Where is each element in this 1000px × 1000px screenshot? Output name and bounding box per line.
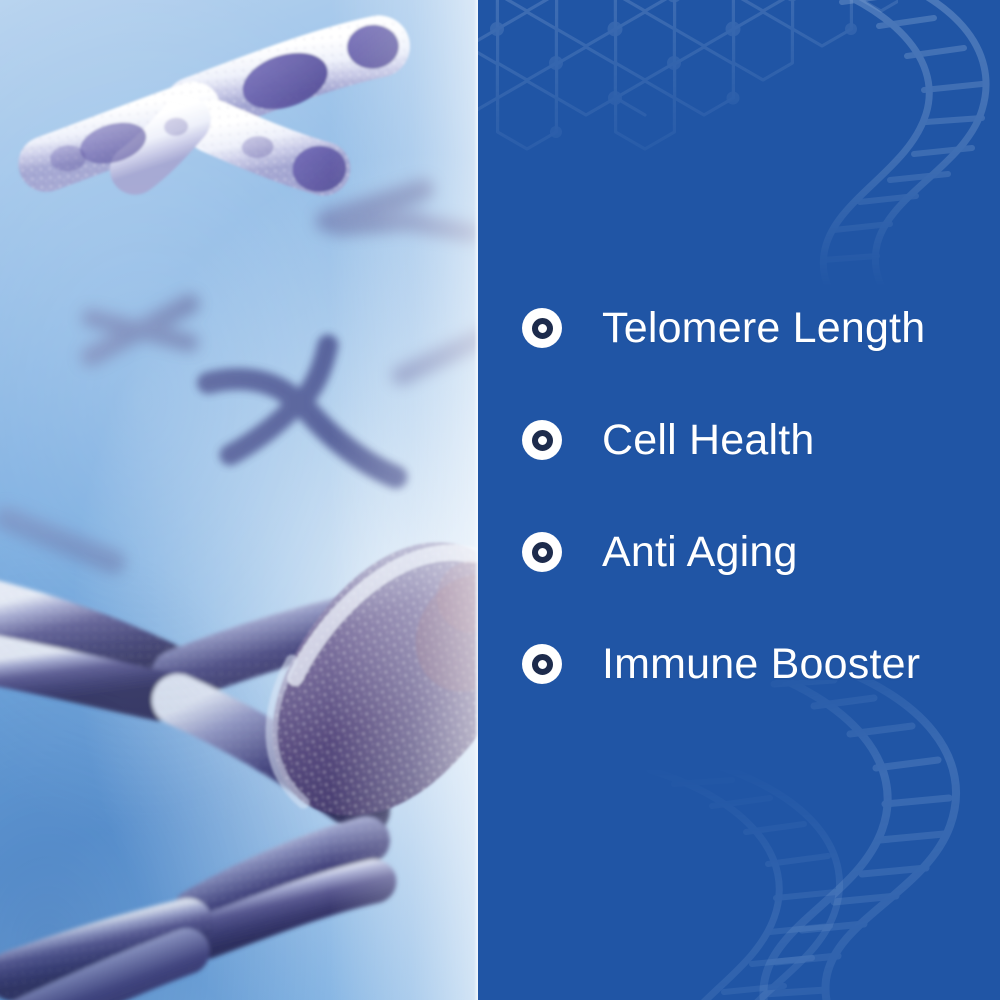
- bullseye-icon: [522, 644, 562, 684]
- feature-item-anti-aging[interactable]: Anti Aging: [522, 496, 1000, 608]
- feature-item-immune-booster[interactable]: Immune Booster: [522, 608, 1000, 720]
- chromosome-far-bottom: [0, 503, 129, 578]
- bullseye-icon: [522, 308, 562, 348]
- chromosome-illustration: [0, 0, 478, 1000]
- bullseye-icon: [522, 532, 562, 572]
- feature-label: Anti Aging: [602, 531, 798, 574]
- product-feature-graphic: Telomere Length Cell Health Anti Aging I…: [0, 0, 1000, 1000]
- feature-label: Cell Health: [602, 419, 815, 462]
- feature-panel: Telomere Length Cell Health Anti Aging I…: [478, 0, 1000, 1000]
- feature-label: Immune Booster: [602, 643, 920, 686]
- bullseye-icon: [522, 420, 562, 460]
- chromosome-bottom: [2, 840, 385, 1000]
- feature-item-cell-health[interactable]: Cell Health: [522, 384, 1000, 496]
- feature-list: Telomere Length Cell Health Anti Aging I…: [478, 0, 1000, 1000]
- feature-label: Telomere Length: [602, 307, 925, 350]
- feature-item-telomere-length[interactable]: Telomere Length: [522, 272, 1000, 384]
- chromosome-photo: [0, 0, 478, 1000]
